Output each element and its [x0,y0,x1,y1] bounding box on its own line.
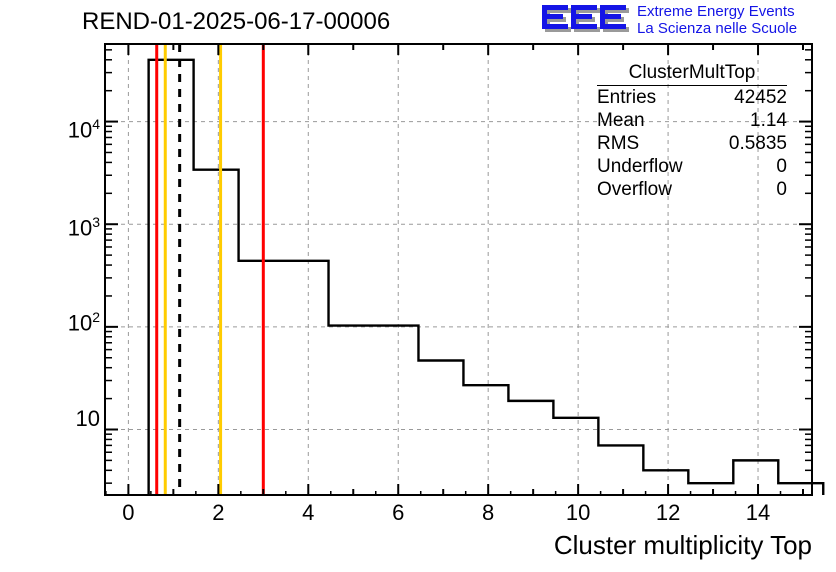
stats-row-label: Mean [597,110,645,132]
x-tick-label: 14 [728,500,788,526]
x-tick-label: 0 [98,500,158,526]
y-tick-label-100: 102 [22,309,100,336]
y-tick-label-10: 10 [22,406,100,432]
stats-title: ClusterMultTop [597,62,787,86]
stats-row-value: 0 [776,179,787,201]
stats-row-value: 42452 [734,87,787,109]
x-tick-label: 10 [548,500,608,526]
x-tick-label: 2 [188,500,248,526]
stats-rows: Entries42452Mean1.14RMS0.5835Underflow0O… [597,86,787,201]
stats-row: Underflow0 [597,155,787,178]
x-tick-label: 4 [278,500,338,526]
x-tick-label: 6 [368,500,428,526]
y-tick-label-10000: 104 [22,116,100,143]
x-axis-title: Cluster multiplicity Top [554,530,812,561]
stats-row-label: Overflow [597,179,672,201]
y-tick-label-1000: 103 [22,214,100,241]
x-tick-label: 12 [638,500,698,526]
stats-box: ClusterMultTop Entries42452Mean1.14RMS0.… [597,62,787,201]
stats-row-label: Entries [597,87,656,109]
stats-row-value: 1.14 [750,110,787,132]
stats-row-label: RMS [597,133,639,155]
stats-row-label: Underflow [597,156,683,178]
stats-row: Entries42452 [597,86,787,109]
stats-row: Mean1.14 [597,109,787,132]
stats-row: RMS0.5835 [597,132,787,155]
stats-row-value: 0 [776,156,787,178]
x-tick-label: 8 [458,500,518,526]
root-canvas: REND-01-2025-06-17-00006 Extreme Energy … [0,0,836,572]
stats-row: Overflow0 [597,178,787,201]
stats-row-value: 0.5835 [729,133,787,155]
